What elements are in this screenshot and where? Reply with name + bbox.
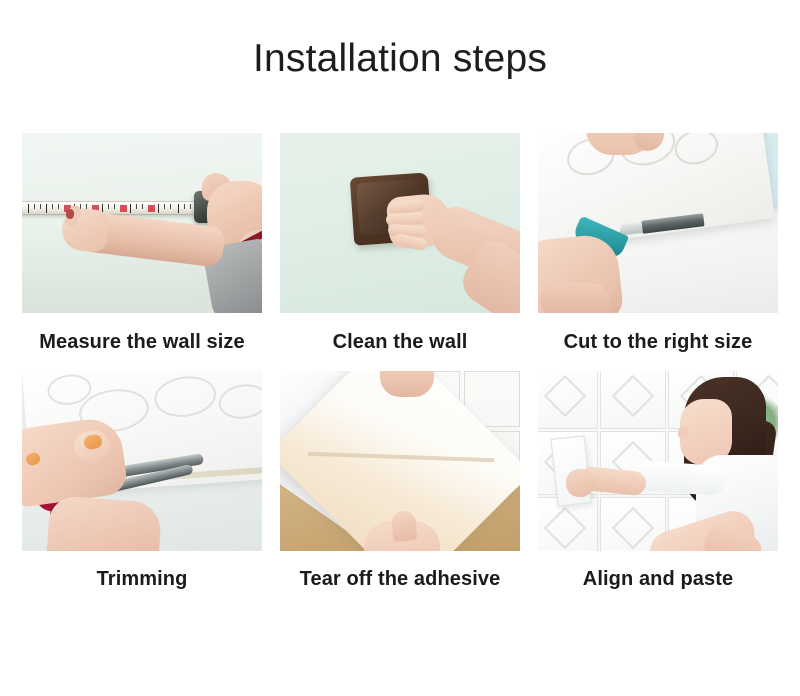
step-card-3: Cut to the right size (538, 133, 778, 371)
pressing-hand (566, 469, 594, 497)
step-card-6: Align and paste (538, 371, 778, 608)
step-photo-peel-adhesive (280, 371, 520, 551)
step-caption-1: Measure the wall size (22, 313, 262, 371)
page-title: Installation steps (0, 36, 800, 82)
tape-measure-blade (22, 201, 202, 215)
step-photo-cut-panel (538, 133, 778, 313)
step-card-1: Measure the wall size (22, 133, 262, 371)
step-caption-6: Align and paste (538, 551, 778, 608)
step-photo-clean-wall (280, 133, 520, 313)
step-caption-3: Cut to the right size (538, 313, 778, 371)
step-card-4: Trimming (22, 371, 262, 608)
nose (678, 427, 688, 439)
step-caption-5: Tear off the adhesive (280, 551, 520, 608)
fingernail (66, 209, 74, 219)
step-card-2: Clean the wall (280, 133, 520, 371)
step-caption-2: Clean the wall (280, 313, 520, 371)
knuckles (540, 283, 610, 313)
step-card-5: Tear off the adhesive (280, 371, 520, 608)
installation-steps-page: Installation steps (0, 0, 800, 696)
embossed-motif (671, 133, 723, 169)
embossed-motif (217, 381, 262, 422)
step-photo-trim-panel (22, 371, 262, 551)
lower-hand (46, 495, 163, 551)
steps-grid: Measure the wall size Clean the wall (22, 133, 778, 608)
step-caption-4: Trimming (22, 551, 262, 608)
embossed-motif (152, 372, 219, 420)
step-photo-align-paste (538, 371, 778, 551)
step-photo-measure-wall (22, 133, 262, 313)
